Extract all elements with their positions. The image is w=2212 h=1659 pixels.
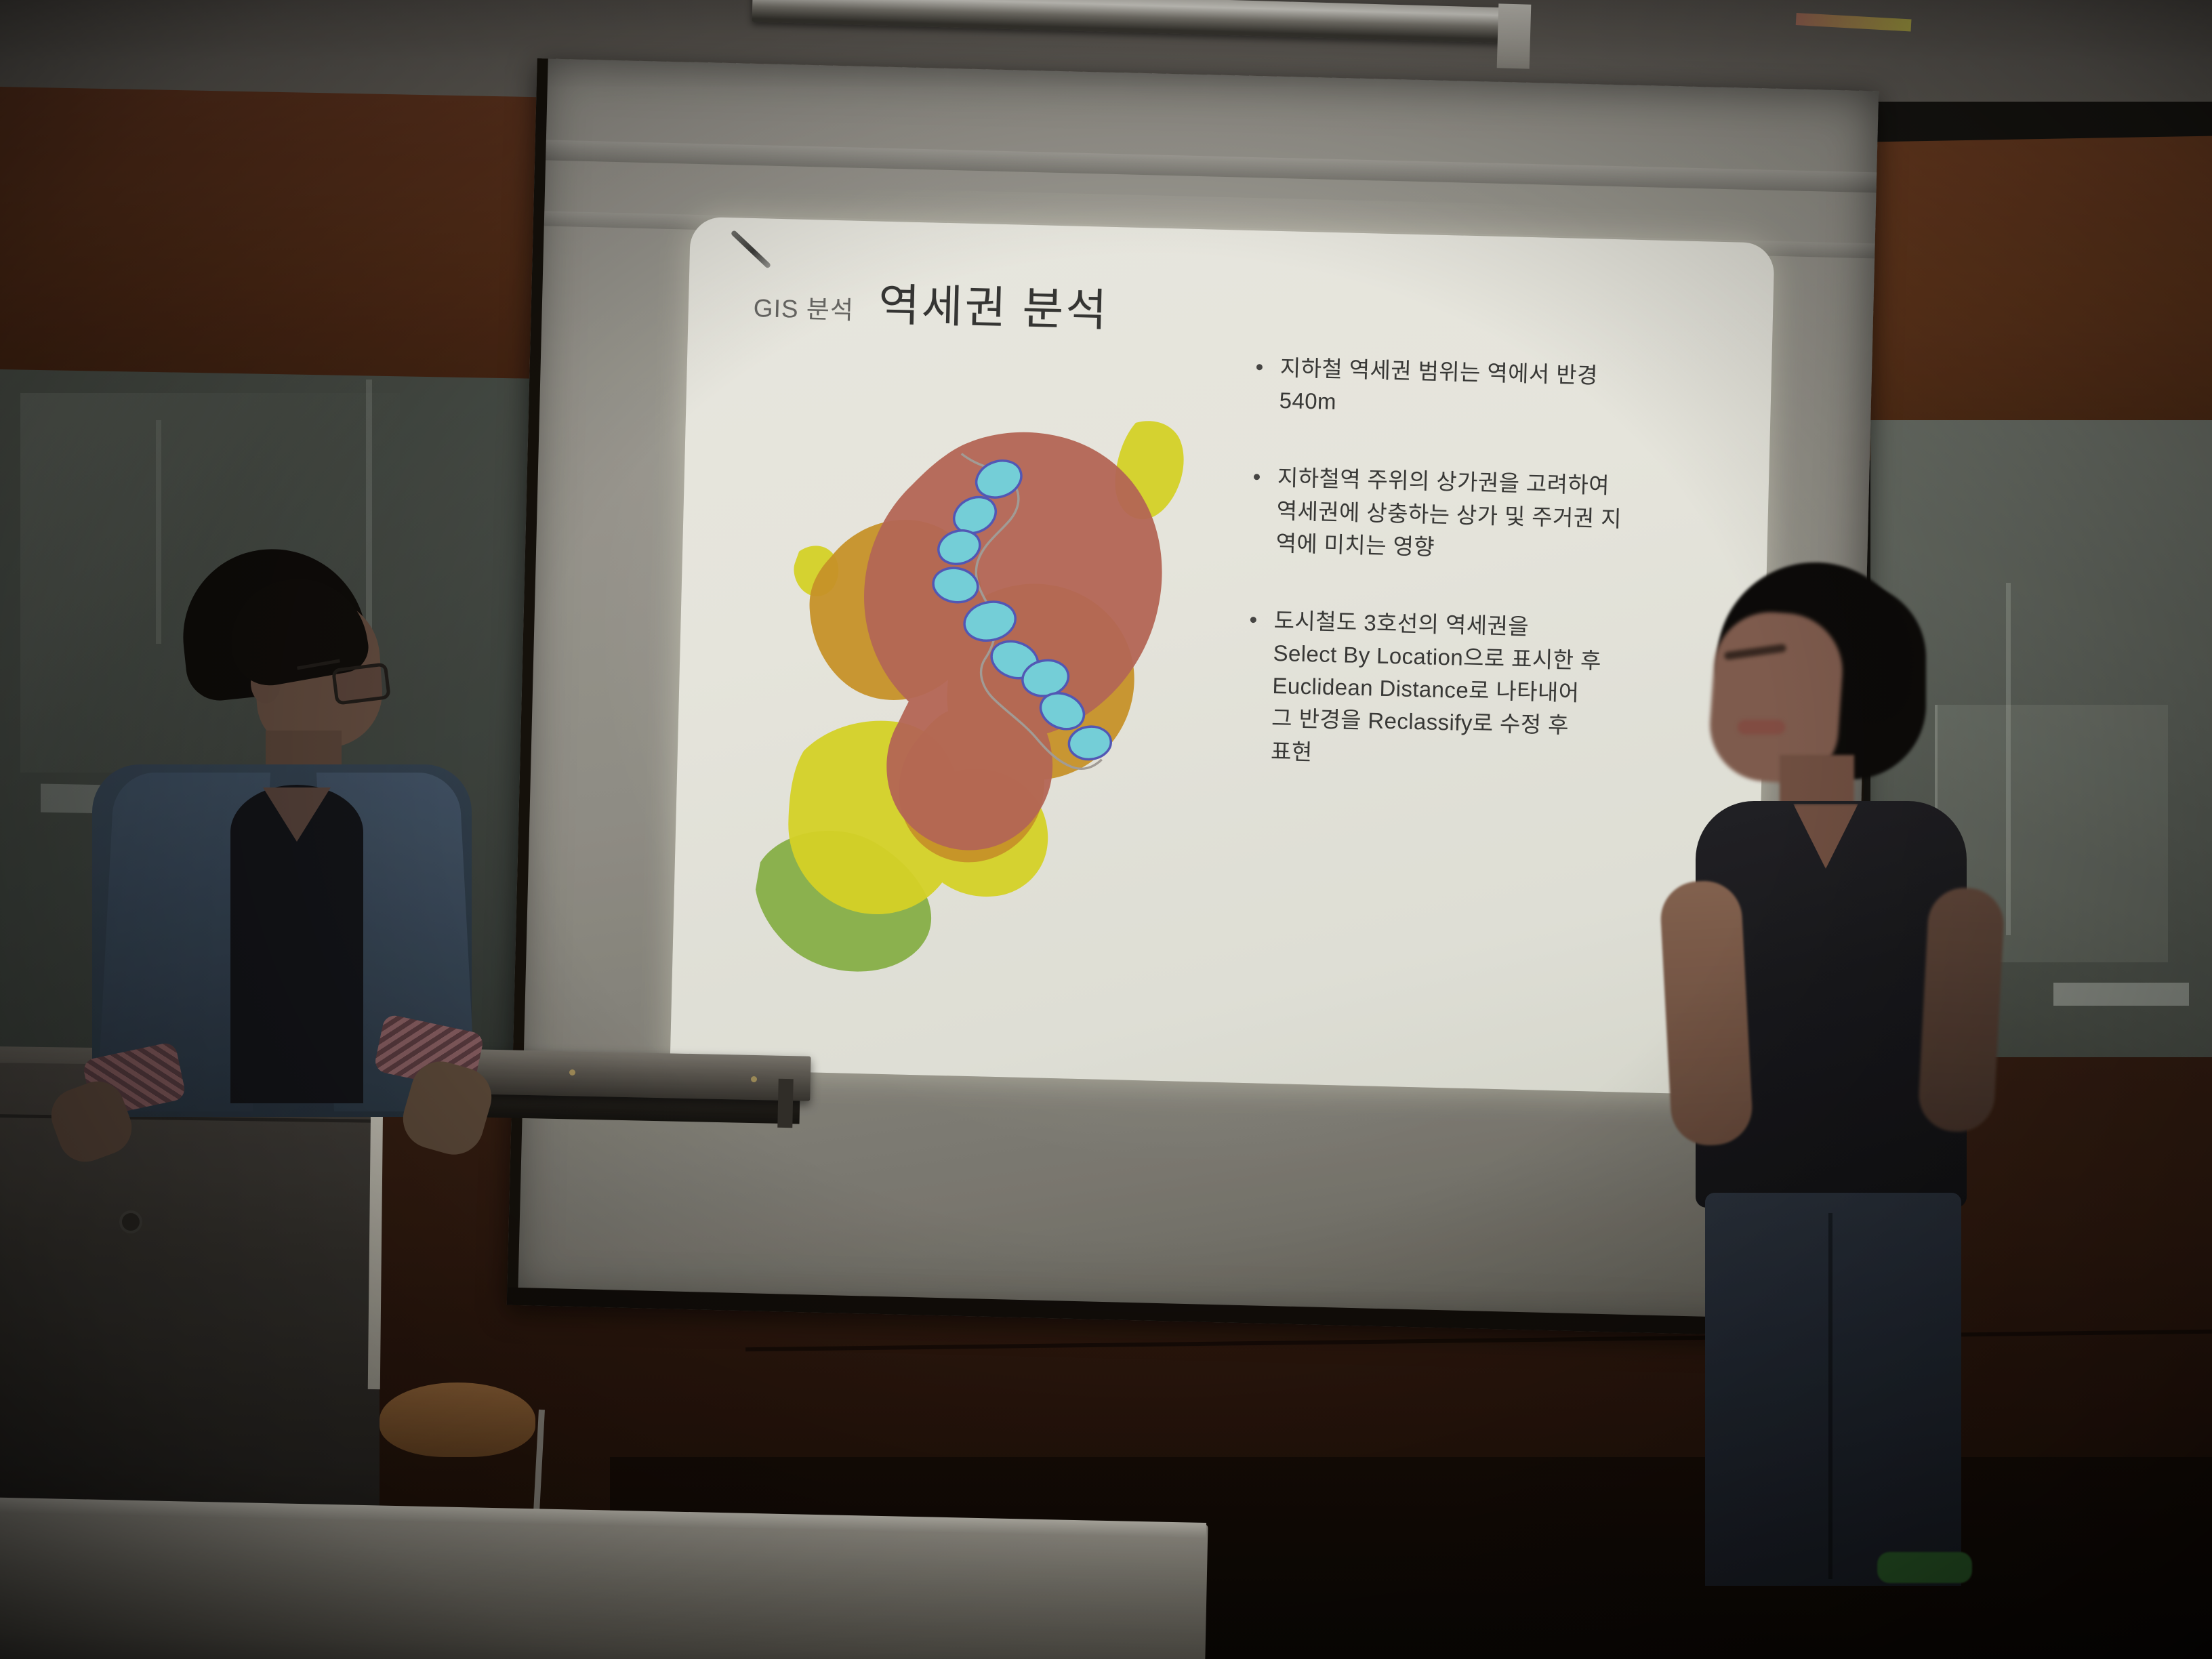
shoe: [1877, 1552, 1972, 1583]
left-presenter: [27, 549, 529, 1105]
eyeglasses-lens: [331, 662, 391, 705]
gis-distance-map: [745, 388, 1193, 994]
arm: [1659, 879, 1754, 1147]
lecture-room-scene: GIS 분석 역세권 분석: [0, 0, 2212, 1659]
wood-wall-panel-right: [1857, 136, 2212, 461]
screen-roller-bracket: [1497, 3, 1532, 68]
bullet-text: 지하철 역세권 범위는 역에서 반경 540m: [1279, 352, 1598, 425]
shelf-end-cap: [777, 1079, 794, 1128]
slide-eyebrow-title: GIS 분석: [753, 287, 854, 327]
lectern-knob: [122, 1213, 140, 1231]
shelf-screw: [751, 1076, 757, 1082]
pen-stroke-icon: [731, 230, 772, 269]
bullet-dot-icon: [1256, 364, 1263, 370]
glass-reflection-strip: [2053, 983, 2189, 1006]
presentation-slide: GIS 분석 역세권 분석: [670, 217, 1774, 1096]
right-presenter: [1654, 562, 2020, 1579]
bullet-dot-icon: [1254, 474, 1260, 480]
lips: [1738, 720, 1785, 735]
slide-title-row: GIS 분석 역세권 분석: [753, 279, 1109, 333]
bullet-item: 지하철 역세권 범위는 역에서 반경 540m: [1255, 351, 1731, 428]
bullet-text: 도시철도 3호선의 역세권을 Select By Location으로 표시한 …: [1271, 605, 1603, 776]
bullet-text: 지하철역 주위의 상가권을 고려하여 역세권에 상충하는 상가 및 주거권 지 …: [1275, 462, 1623, 568]
bullet-item: 지하철역 주위의 상가권을 고려하여 역세권에 상충하는 상가 및 주거권 지 …: [1252, 461, 1728, 571]
slide-main-title: 역세권 분석: [878, 283, 1109, 333]
gis-map-svg: [745, 388, 1193, 994]
arm: [1917, 886, 2006, 1133]
wooden-chair-seat: [380, 1382, 535, 1457]
bullet-dot-icon: [1250, 617, 1256, 623]
shelf-screw: [569, 1069, 575, 1076]
jeans: [1705, 1193, 1961, 1586]
jeans-seam: [1828, 1213, 1832, 1579]
